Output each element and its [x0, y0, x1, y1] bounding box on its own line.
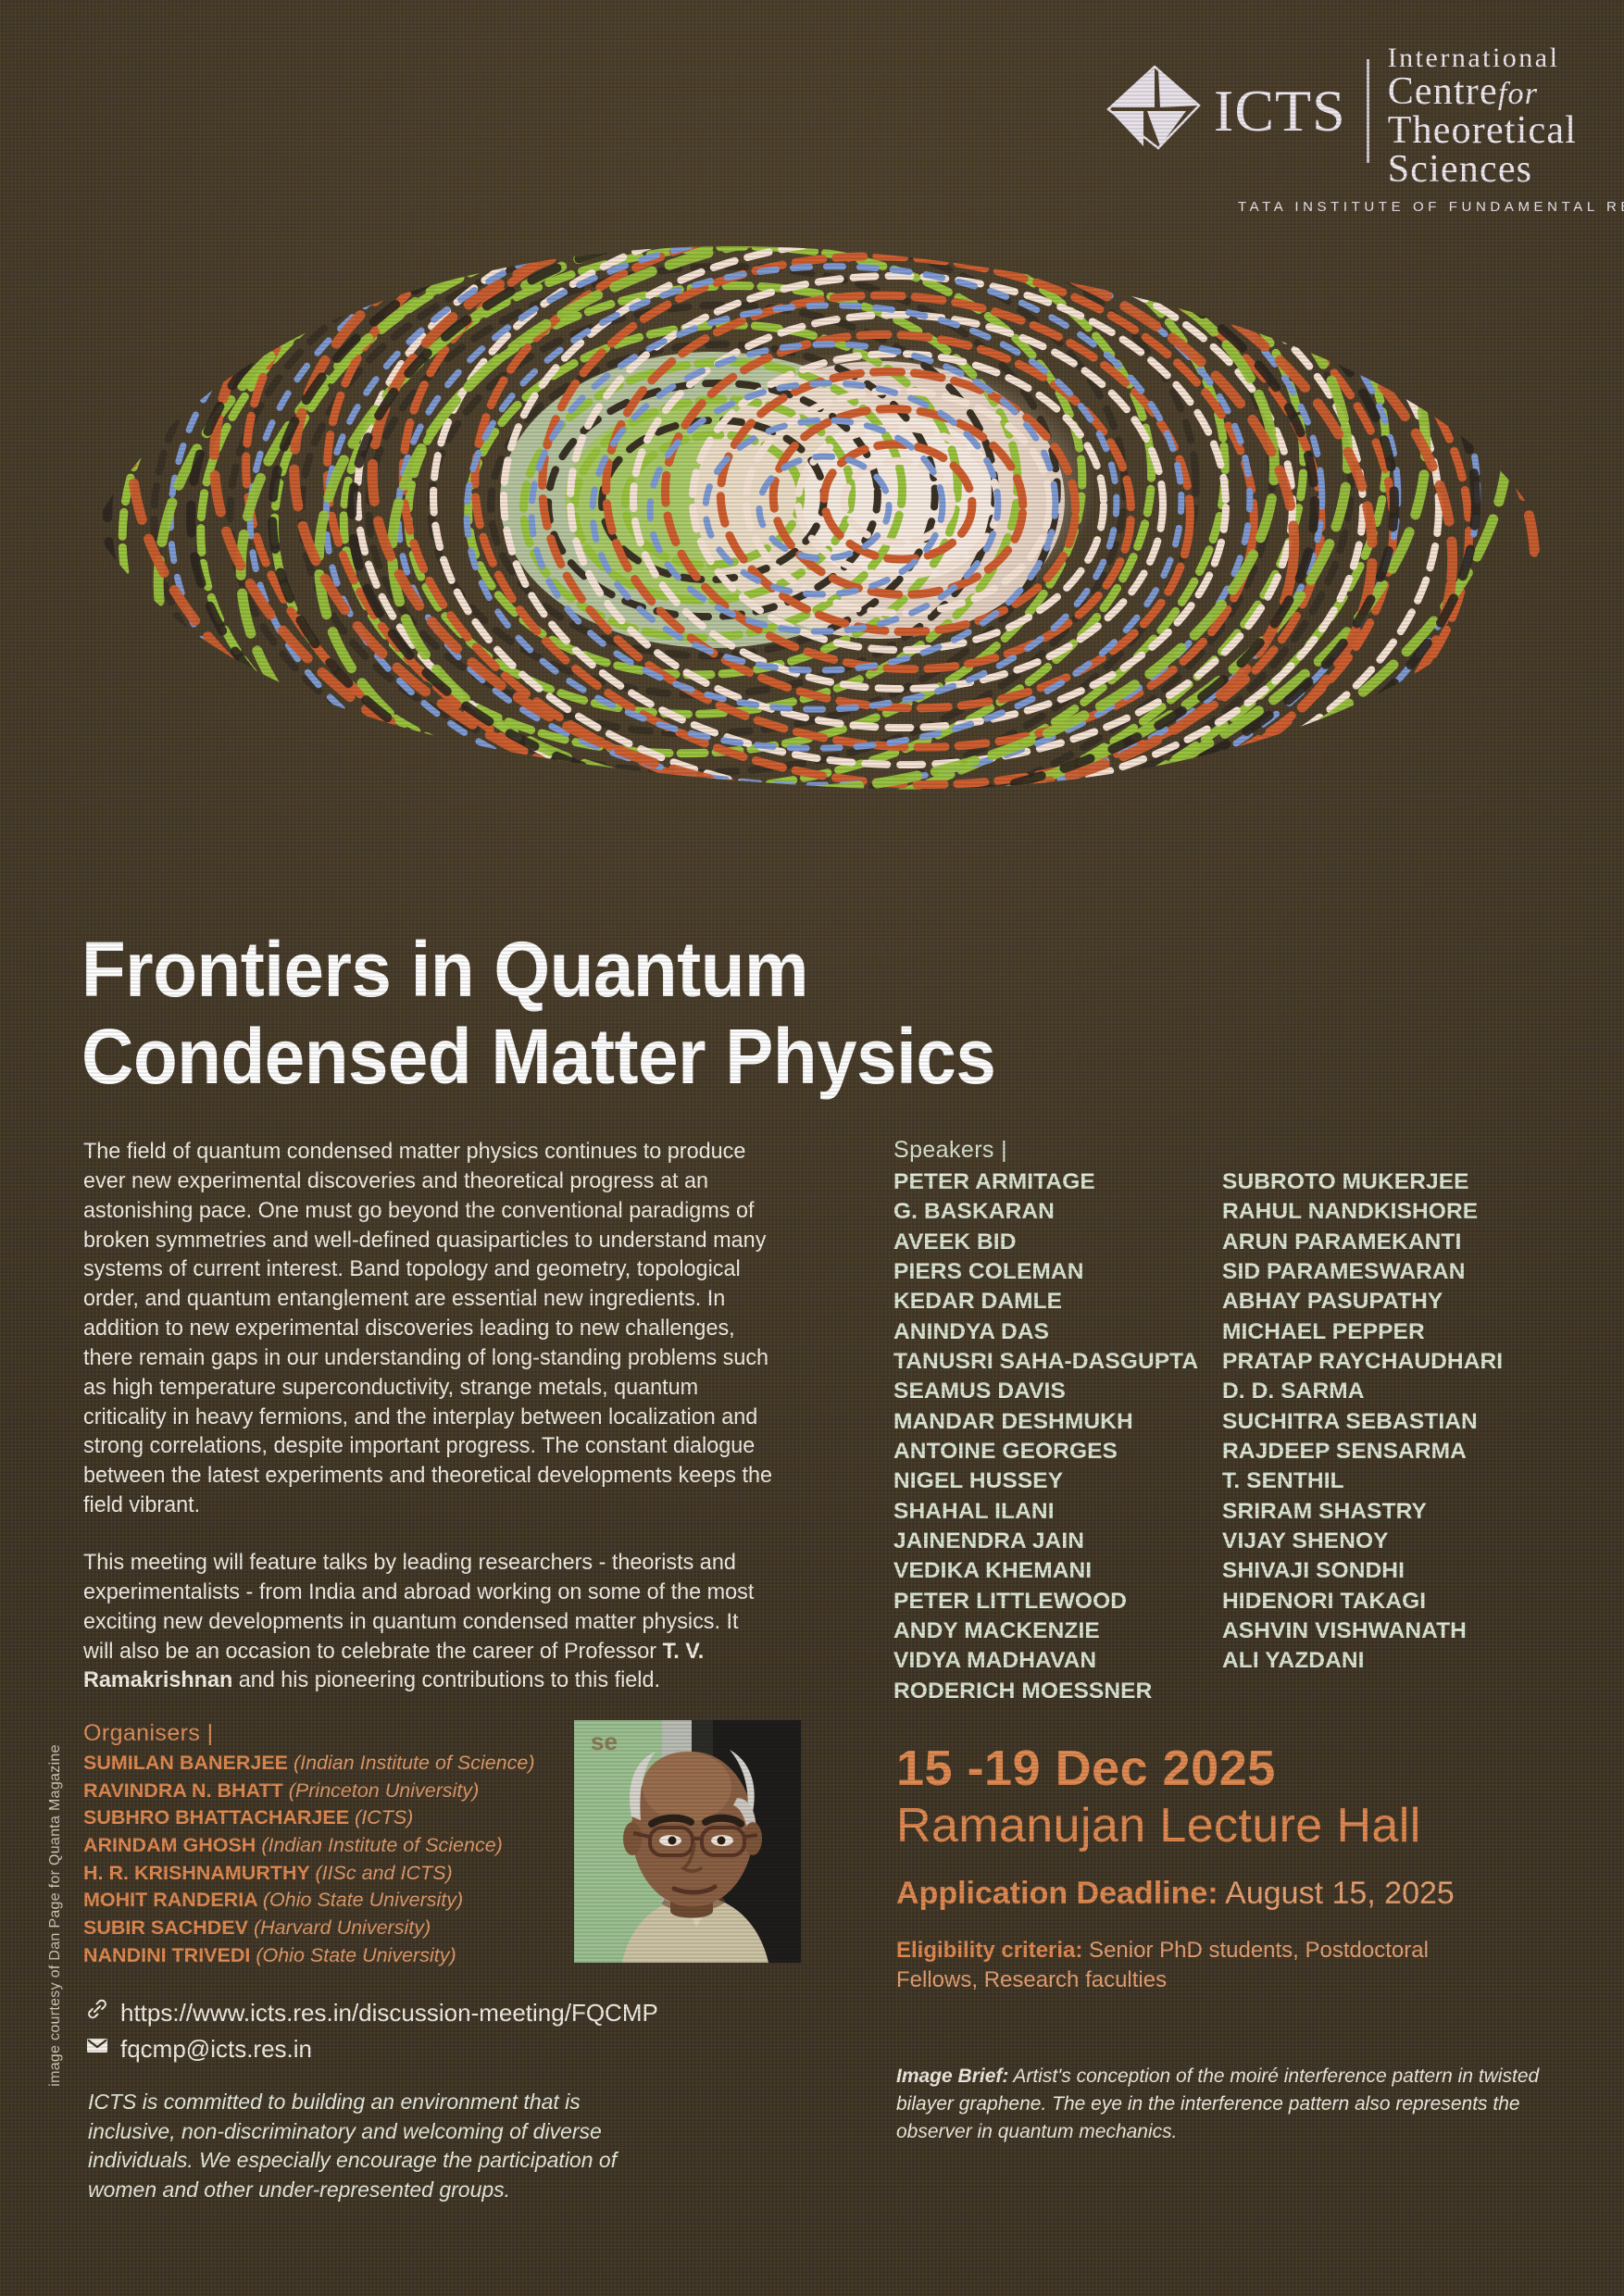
moire-interference-artwork [65, 139, 1565, 880]
speaker-name: KEDAR DAMLE [893, 1287, 1222, 1316]
description-paragraph-1: The field of quantum condensed matter ph… [83, 1137, 773, 1520]
organiser-affiliation: (Indian Institute of Science) [261, 1834, 503, 1856]
speaker-name: ABHAY PASUPATHY [1222, 1287, 1551, 1316]
logo-line-centre-for: Centrefor [1388, 72, 1577, 111]
image-brief: Image Brief: Artist's conception of the … [896, 2063, 1563, 2145]
event-venue: Ramanujan Lecture Hall [896, 1798, 1581, 1854]
organiser-name: H. R. KRISHNAMURTHY [83, 1862, 315, 1884]
website-row[interactable]: https://www.icts.res.in/discussion-meeti… [85, 1995, 752, 2031]
organiser-affiliation: (Ohio State University) [256, 1944, 456, 1966]
logo-line-international: International [1388, 44, 1577, 72]
organiser-row: NANDINI TRIVEDI (Ohio State University) [83, 1942, 565, 1970]
organiser-row: H. R. KRISHNAMURTHY (IISc and ICTS) [83, 1860, 565, 1888]
speaker-name: ALI YAZDANI [1222, 1646, 1551, 1676]
portrait-photo-t-v-ramakrishnan: se [574, 1720, 801, 1963]
organiser-affiliation: (Ohio State University) [263, 1889, 463, 1911]
page-title: Frontiers in Quantum Condensed Matter Ph… [81, 926, 1287, 1100]
organiser-row: RAVINDRA N. BHATT (Princeton University) [83, 1778, 565, 1805]
organiser-name: RAVINDRA N. BHATT [83, 1779, 289, 1802]
speaker-name: MICHAEL PEPPER [1222, 1317, 1551, 1347]
speaker-name: VIJAY SHENOY [1222, 1527, 1551, 1556]
speaker-name: TANUSRI SAHA-DASGUPTA [893, 1347, 1222, 1377]
link-icon [85, 1995, 109, 2031]
organiser-row: MOHIT RANDERIA (Ohio State University) [83, 1887, 565, 1915]
deadline-label: Application Deadline: [896, 1876, 1218, 1911]
organiser-row: SUMILAN BANERJEE (Indian Institute of Sc… [83, 1750, 565, 1778]
speakers-column-right: SUBROTO MUKERJEERAHUL NANDKISHOREARUN PA… [1222, 1167, 1551, 1706]
eligibility-criteria: Eligibility criteria: Senior PhD student… [896, 1936, 1470, 1996]
organiser-affiliation: (Harvard University) [254, 1916, 431, 1939]
title-line-2: Condensed Matter Physics [81, 1013, 1287, 1100]
image-credit: image courtesy of Dan Page for Quanta Ma… [47, 1721, 64, 2110]
speaker-name: D. D. SARMA [1222, 1377, 1551, 1406]
organisers-section: Organisers | SUMILAN BANERJEE (Indian In… [83, 1720, 565, 1969]
speaker-name: VIDYA MADHAVAN [893, 1646, 1222, 1676]
speaker-name: JAINENDRA JAIN [893, 1527, 1222, 1556]
contact-block: https://www.icts.res.in/discussion-meeti… [85, 1995, 752, 2067]
speaker-name: PETER LITTLEWOOD [893, 1587, 1222, 1616]
deadline-value: August 15, 2025 [1218, 1876, 1455, 1911]
organiser-affiliation: (Princeton University) [289, 1779, 480, 1802]
organiser-affiliation: (IISc and ICTS) [315, 1862, 452, 1884]
speaker-name: ASHVIN VISHWANATH [1222, 1616, 1551, 1646]
event-details: 15 -19 Dec 2025 Ramanujan Lecture Hall A… [896, 1741, 1581, 1996]
website-url[interactable]: https://www.icts.res.in/discussion-meeti… [120, 1995, 658, 2031]
speakers-heading: Speakers | [893, 1137, 1579, 1164]
organiser-row: SUBHRO BHATTACHARJEE (ICTS) [83, 1804, 565, 1832]
speaker-name: ANTOINE GEORGES [893, 1437, 1222, 1466]
speaker-name: ANINDYA DAS [893, 1317, 1222, 1347]
speaker-name: HIDENORI TAKAGI [1222, 1587, 1551, 1616]
speaker-name: SHAHAL ILANI [893, 1497, 1222, 1527]
speaker-name: RAHUL NANDKISHORE [1222, 1197, 1551, 1227]
email-row[interactable]: fqcmp@icts.res.in [85, 2031, 752, 2067]
eligibility-label: Eligibility criteria: [896, 1938, 1082, 1963]
speaker-name: ARUN PARAMEKANTI [1222, 1228, 1551, 1257]
speaker-name: SUBROTO MUKERJEE [1222, 1167, 1551, 1197]
organisers-heading: Organisers | [83, 1720, 565, 1747]
speakers-section: Speakers | PETER ARMITAGEG. BASKARANAVEE… [893, 1137, 1579, 1706]
organiser-affiliation: (Indian Institute of Science) [294, 1752, 535, 1774]
event-dates: 15 -19 Dec 2025 [896, 1741, 1581, 1796]
speaker-name: G. BASKARAN [893, 1197, 1222, 1227]
organisers-list: SUMILAN BANERJEE (Indian Institute of Sc… [83, 1750, 565, 1969]
organiser-name: MOHIT RANDERIA [83, 1889, 263, 1911]
organiser-name: NANDINI TRIVEDI [83, 1944, 256, 1966]
svg-text:se: se [591, 1728, 618, 1755]
speaker-name: RAJDEEP SENSARMA [1222, 1437, 1551, 1466]
organiser-affiliation: (ICTS) [355, 1806, 413, 1828]
description-paragraph-2: This meeting will feature talks by leadi… [83, 1548, 773, 1695]
speakers-column-left: PETER ARMITAGEG. BASKARANAVEEK BIDPIERS … [893, 1167, 1222, 1706]
speaker-name: SUCHITRA SEBASTIAN [1222, 1407, 1551, 1437]
organiser-name: SUBIR SACHDEV [83, 1916, 254, 1939]
inclusivity-statement: ICTS is committed to building an environ… [88, 2088, 643, 2205]
speaker-name: SEAMUS DAVIS [893, 1377, 1222, 1406]
organiser-row: SUBIR SACHDEV (Harvard University) [83, 1915, 565, 1942]
application-deadline: Application Deadline: August 15, 2025 [896, 1876, 1581, 1912]
speaker-name: RODERICH MOESSNER [893, 1677, 1222, 1706]
organiser-name: SUBHRO BHATTACHARJEE [83, 1806, 355, 1828]
organiser-row: ARINDAM GHOSH (Indian Institute of Scien… [83, 1832, 565, 1860]
p2-post: and his pioneering contributions to this… [232, 1667, 660, 1692]
speaker-name: SID PARAMESWARAN [1222, 1257, 1551, 1287]
envelope-icon [85, 2031, 109, 2067]
organiser-name: SUMILAN BANERJEE [83, 1752, 294, 1774]
speaker-name: MANDAR DESHMUKH [893, 1407, 1222, 1437]
speaker-name: SHIVAJI SONDHI [1222, 1556, 1551, 1586]
speaker-name: T. SENTHIL [1222, 1466, 1551, 1496]
p2-pre: This meeting will feature talks by leadi… [83, 1550, 754, 1664]
description-column: The field of quantum condensed matter ph… [83, 1137, 773, 1723]
speaker-name: PRATAP RAYCHAUDHARI [1222, 1347, 1551, 1377]
image-brief-label: Image Brief: [896, 2065, 1008, 2087]
speaker-name: ANDY MACKENZIE [893, 1616, 1222, 1646]
speaker-name: SRIRAM SHASTRY [1222, 1497, 1551, 1527]
email-address[interactable]: fqcmp@icts.res.in [120, 2031, 312, 2067]
speaker-name: PIERS COLEMAN [893, 1257, 1222, 1287]
organiser-name: ARINDAM GHOSH [83, 1834, 261, 1856]
speaker-name: NIGEL HUSSEY [893, 1466, 1222, 1496]
title-line-1: Frontiers in Quantum [81, 926, 1287, 1013]
speaker-name: VEDIKA KHEMANI [893, 1556, 1222, 1586]
speaker-name: AVEEK BID [893, 1228, 1222, 1257]
speaker-name: PETER ARMITAGE [893, 1167, 1222, 1197]
icts-wordmark: ICTS [1214, 81, 1346, 141]
poster-canvas: ICTS International Centrefor Theoretical… [0, 0, 1624, 2296]
